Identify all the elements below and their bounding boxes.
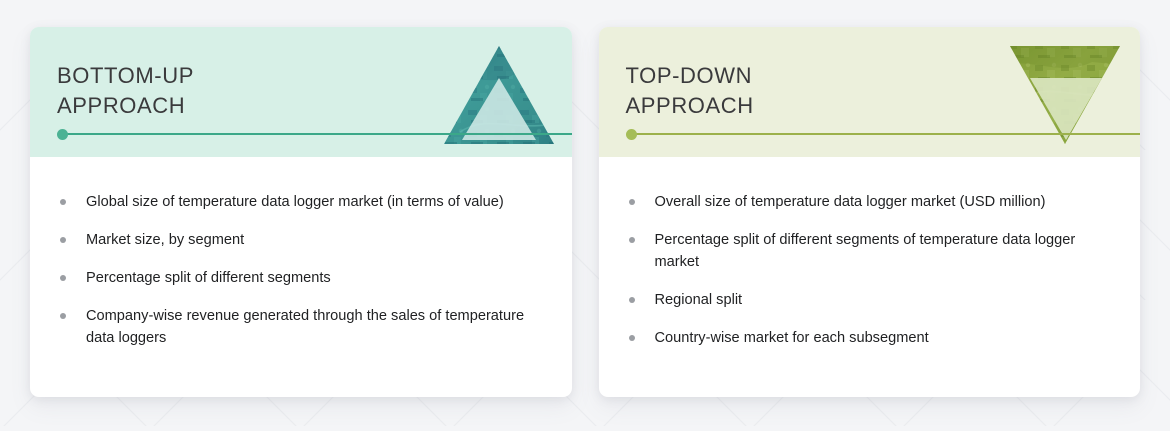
list-item: Percentage split of different segments bbox=[57, 267, 538, 289]
list-item: Percentage split of different segments o… bbox=[626, 229, 1107, 273]
list-item: Market size, by segment bbox=[57, 229, 538, 251]
bullet-dot-icon bbox=[629, 335, 635, 341]
card-title-bottom-up: BOTTOM-UP APPROACH bbox=[57, 61, 194, 121]
accent-rule-top-down bbox=[626, 133, 1141, 135]
list-item-label: Market size, by segment bbox=[86, 232, 244, 248]
list-item: Overall size of temperature data logger … bbox=[626, 191, 1107, 213]
list-item-label: Percentage split of different segments o… bbox=[655, 232, 1076, 270]
bullet-dot-icon bbox=[60, 199, 66, 205]
bullet-dot-icon bbox=[629, 237, 635, 243]
list-item: Company-wise revenue generated through t… bbox=[57, 305, 538, 349]
bullet-dot-icon bbox=[60, 275, 66, 281]
accent-dot bbox=[57, 129, 68, 140]
list-item-label: Company-wise revenue generated through t… bbox=[86, 308, 524, 346]
accent-line bbox=[62, 133, 572, 135]
accent-rule-bottom-up bbox=[57, 133, 572, 135]
card-body-top-down: Overall size of temperature data logger … bbox=[599, 157, 1141, 397]
approach-cards-container: BOTTOM-UP APPROACH bbox=[0, 0, 1170, 426]
card-body-bottom-up: Global size of temperature data logger m… bbox=[30, 157, 572, 397]
list-item: Global size of temperature data logger m… bbox=[57, 191, 538, 213]
card-title-top-down: TOP-DOWN APPROACH bbox=[626, 61, 754, 121]
card-header-top-down: TOP-DOWN APPROACH bbox=[599, 27, 1141, 157]
list-item-label: Overall size of temperature data logger … bbox=[655, 194, 1046, 210]
bullet-dot-icon bbox=[629, 297, 635, 303]
card-top-down: TOP-DOWN APPROACH bbox=[599, 27, 1141, 397]
card-bottom-up: BOTTOM-UP APPROACH bbox=[30, 27, 572, 397]
list-item: Regional split bbox=[626, 289, 1107, 311]
bullet-list-top-down: Overall size of temperature data logger … bbox=[626, 191, 1107, 349]
list-item-label: Country-wise market for each subsegment bbox=[655, 330, 929, 346]
bullet-dot-icon bbox=[60, 237, 66, 243]
accent-dot bbox=[626, 129, 637, 140]
bullet-dot-icon bbox=[60, 313, 66, 319]
list-item-label: Percentage split of different segments bbox=[86, 270, 331, 286]
bullet-dot-icon bbox=[629, 199, 635, 205]
list-item-label: Regional split bbox=[655, 292, 743, 308]
list-item-label: Global size of temperature data logger m… bbox=[86, 194, 504, 210]
bullet-list-bottom-up: Global size of temperature data logger m… bbox=[57, 191, 538, 349]
card-header-bottom-up: BOTTOM-UP APPROACH bbox=[30, 27, 572, 157]
accent-line bbox=[631, 133, 1141, 135]
list-item: Country-wise market for each subsegment bbox=[626, 327, 1107, 349]
